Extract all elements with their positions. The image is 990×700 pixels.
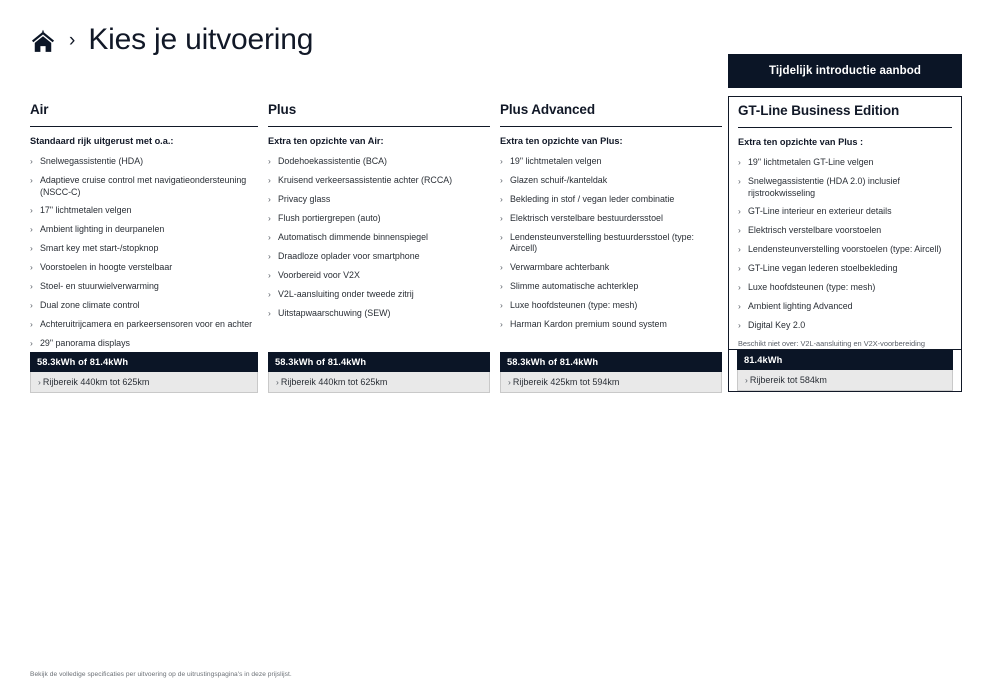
battery-capacity-label: 58.3kWh of 81.4kWh — [30, 352, 258, 372]
feature-label: GT-Line vegan lederen stoelbekleding — [748, 263, 898, 273]
chevron-right-icon: › — [30, 224, 33, 235]
list-item: ›Snelwegassistentie (HDA) — [30, 156, 258, 167]
feature-label: Elektrisch verstelbare bestuurdersstoel — [510, 213, 663, 223]
feature-label: 19" lichtmetalen GT-Line velgen — [748, 157, 874, 167]
feature-label: Harman Kardon premium sound system — [510, 319, 667, 329]
feature-label: Bekleding in stof / vegan leder combinat… — [510, 194, 674, 204]
list-item: ›19" lichtmetalen velgen — [500, 156, 722, 167]
list-item: ›Automatisch dimmende binnenspiegel — [268, 232, 490, 243]
chevron-right-icon: › — [30, 281, 33, 292]
chevron-right-icon: › — [738, 225, 741, 236]
column-title: GT-Line Business Edition — [738, 97, 952, 127]
list-item: ›Glazen schuif-/kanteldak — [500, 175, 722, 186]
trim-column-gt-line-business-edition: GT-Line Business Edition Extra ten opzic… — [728, 96, 962, 350]
chevron-right-icon: › — [738, 157, 741, 168]
chevron-right-icon: › — [500, 156, 503, 167]
feature-label: V2L-aansluiting onder tweede zitrij — [278, 289, 414, 299]
chevron-right-icon: › — [500, 262, 503, 273]
list-item: ›Lendensteunverstelling voorstoelen (typ… — [738, 244, 952, 255]
chevron-right-icon: › — [500, 175, 503, 186]
promo-banner: Tijdelijk introductie aanbod — [728, 54, 962, 88]
battery-capacity-label: 58.3kWh of 81.4kWh — [500, 352, 722, 372]
column-subtitle: Extra ten opzichte van Plus : — [738, 137, 952, 148]
list-item: ›GT-Line vegan lederen stoelbekleding — [738, 263, 952, 274]
range-label: Rijbereik 440km tot 625km — [281, 377, 388, 387]
feature-label: Kruisend verkeersassistentie achter (RCC… — [278, 175, 452, 185]
list-item: ›Kruisend verkeersassistentie achter (RC… — [268, 175, 490, 186]
chevron-right-icon: › — [738, 282, 741, 293]
feature-label: Luxe hoofdsteunen (type: mesh) — [748, 282, 875, 292]
chevron-right-icon: › — [268, 194, 271, 205]
list-item: ›29" panorama displays — [30, 338, 258, 349]
chevron-right-icon: › — [500, 319, 503, 330]
list-item: ›Ambient lighting in deurpanelen — [30, 224, 258, 235]
feature-label: GT-Line interieur en exterieur details — [748, 206, 892, 216]
chevron-right-icon: › — [508, 377, 511, 387]
feature-label: Snelwegassistentie (HDA 2.0) inclusief r… — [748, 176, 900, 197]
battery-block-gt-line: 81.4kWh ›Rijbereik tot 584km — [737, 350, 953, 391]
list-item: ›Stoel- en stuurwielverwarming — [30, 281, 258, 292]
chevron-right-icon: › — [30, 156, 33, 167]
chevron-right-icon: › — [738, 244, 741, 255]
list-item: ›Ambient lighting Advanced — [738, 301, 952, 312]
feature-label: 19" lichtmetalen velgen — [510, 156, 601, 166]
chevron-right-icon: › — [500, 213, 503, 224]
breadcrumb-separator: › — [69, 31, 75, 50]
chevron-right-icon: › — [268, 156, 271, 167]
chevron-right-icon: › — [500, 194, 503, 205]
chevron-right-icon: › — [500, 232, 503, 243]
chevron-right-icon: › — [268, 270, 271, 281]
home-icon[interactable] — [30, 28, 56, 54]
feature-list: ›19" lichtmetalen velgen ›Glazen schuif-… — [500, 156, 722, 331]
feature-label: Verwarmbare achterbank — [510, 262, 609, 272]
list-item: ›Bekleding in stof / vegan leder combina… — [500, 194, 722, 205]
list-item: ›Achteruitrijcamera en parkeersensoren v… — [30, 319, 258, 330]
feature-label: Ambient lighting in deurpanelen — [40, 224, 164, 234]
list-item: ›Slimme automatische achterklep — [500, 281, 722, 292]
range-label: Rijbereik 440km tot 625km — [43, 377, 150, 387]
list-item: ›Privacy glass — [268, 194, 490, 205]
list-item: ›Elektrisch verstelbare voorstoelen — [738, 225, 952, 236]
feature-label: Adaptieve cruise control met navigatieon… — [40, 175, 246, 196]
chevron-right-icon: › — [30, 262, 33, 273]
trim-column-air: Air Standaard rijk uitgerust met o.a.: ›… — [30, 96, 258, 357]
column-title: Air — [30, 96, 258, 126]
breadcrumb: › Kies je uitvoering — [30, 26, 313, 56]
chevron-right-icon: › — [738, 320, 741, 331]
feature-list: ›Dodehoekassistentie (BCA) ›Kruisend ver… — [268, 156, 490, 319]
page-title: Kies je uitvoering — [88, 25, 313, 55]
chevron-right-icon: › — [268, 308, 271, 319]
feature-label: Draadloze oplader voor smartphone — [278, 251, 420, 261]
feature-label: Stoel- en stuurwielverwarming — [40, 281, 159, 291]
feature-label: Elektrisch verstelbare voorstoelen — [748, 225, 881, 235]
chevron-right-icon: › — [738, 176, 741, 187]
range-row: ›Rijbereik 440km tot 625km — [30, 372, 258, 393]
list-item: ›Dual zone climate control — [30, 300, 258, 311]
column-title: Plus Advanced — [500, 96, 722, 126]
feature-label: Achteruitrijcamera en parkeersensoren vo… — [40, 319, 252, 329]
chevron-right-icon: › — [30, 205, 33, 216]
trim-column-plus-advanced: Plus Advanced Extra ten opzichte van Plu… — [500, 96, 722, 338]
feature-label: Flush portiergrepen (auto) — [278, 213, 381, 223]
list-item: ›Digital Key 2.0 — [738, 320, 952, 331]
list-item: ›Luxe hoofdsteunen (type: mesh) — [738, 282, 952, 293]
list-item: ›19" lichtmetalen GT-Line velgen — [738, 157, 952, 168]
battery-capacity-label: 81.4kWh — [737, 350, 953, 370]
feature-list: ›19" lichtmetalen GT-Line velgen ›Snelwe… — [738, 157, 952, 332]
feature-label: Voorbereid voor V2X — [278, 270, 360, 280]
column-title: Plus — [268, 96, 490, 126]
range-row: ›Rijbereik tot 584km — [737, 370, 953, 391]
feature-label: Dodehoekassistentie (BCA) — [278, 156, 387, 166]
column-rule — [738, 127, 952, 129]
list-item: ›GT-Line interieur en exterieur details — [738, 206, 952, 217]
chevron-right-icon: › — [30, 338, 33, 349]
column-subtitle: Extra ten opzichte van Plus: — [500, 136, 722, 147]
chevron-right-icon: › — [30, 319, 33, 330]
range-label: Rijbereik tot 584km — [750, 375, 827, 385]
feature-label: Lendensteunverstelling voorstoelen (type… — [748, 244, 941, 254]
list-item: ›Smart key met start-/stopknop — [30, 243, 258, 254]
chevron-right-icon: › — [738, 301, 741, 312]
chevron-right-icon: › — [30, 175, 33, 186]
exclusion-note: Beschikt niet over: V2L-aansluiting en V… — [738, 339, 952, 348]
feature-label: Luxe hoofdsteunen (type: mesh) — [510, 300, 637, 310]
chevron-right-icon: › — [268, 175, 271, 186]
list-item: ›17" lichtmetalen velgen — [30, 205, 258, 216]
feature-label: Ambient lighting Advanced — [748, 301, 853, 311]
chevron-right-icon: › — [745, 375, 748, 385]
column-subtitle: Standaard rijk uitgerust met o.a.: — [30, 136, 258, 147]
feature-label: Automatisch dimmende binnenspiegel — [278, 232, 428, 242]
list-item: ›Draadloze oplader voor smartphone — [268, 251, 490, 262]
feature-label: Privacy glass — [278, 194, 330, 204]
list-item: ›V2L-aansluiting onder tweede zitrij — [268, 289, 490, 300]
chevron-right-icon: › — [268, 251, 271, 262]
list-item: ›Voorbereid voor V2X — [268, 270, 490, 281]
feature-label: Glazen schuif-/kanteldak — [510, 175, 607, 185]
chevron-right-icon: › — [268, 289, 271, 300]
feature-label: Dual zone climate control — [40, 300, 140, 310]
chevron-right-icon: › — [268, 232, 271, 243]
feature-label: 29" panorama displays — [40, 338, 130, 348]
chevron-right-icon: › — [30, 243, 33, 254]
feature-label: Voorstoelen in hoogte verstelbaar — [40, 262, 172, 272]
list-item: ›Snelwegassistentie (HDA 2.0) inclusief … — [738, 176, 952, 199]
feature-label: Smart key met start-/stopknop — [40, 243, 158, 253]
list-item: ›Elektrisch verstelbare bestuurdersstoel — [500, 213, 722, 224]
feature-label: 17" lichtmetalen velgen — [40, 205, 131, 215]
battery-block-plus: 58.3kWh of 81.4kWh ›Rijbereik 440km tot … — [268, 352, 490, 393]
chevron-right-icon: › — [500, 281, 503, 292]
feature-label: Snelwegassistentie (HDA) — [40, 156, 143, 166]
chevron-right-icon: › — [276, 377, 279, 387]
chevron-right-icon: › — [30, 300, 33, 311]
battery-capacity-label: 58.3kWh of 81.4kWh — [268, 352, 490, 372]
column-subtitle: Extra ten opzichte van Air: — [268, 136, 490, 147]
chevron-right-icon: › — [268, 213, 271, 224]
list-item: ›Voorstoelen in hoogte verstelbaar — [30, 262, 258, 273]
chevron-right-icon: › — [500, 300, 503, 311]
chevron-right-icon: › — [738, 263, 741, 274]
feature-label: Lendensteunverstelling bestuurdersstoel … — [510, 232, 694, 253]
trim-column-plus: Plus Extra ten opzichte van Air: ›Dodeho… — [268, 96, 490, 327]
column-rule — [268, 126, 490, 128]
range-label: Rijbereik 425km tot 594km — [513, 377, 620, 387]
list-item: ›Luxe hoofdsteunen (type: mesh) — [500, 300, 722, 311]
list-item: ›Dodehoekassistentie (BCA) — [268, 156, 490, 167]
battery-block-plus-advanced: 58.3kWh of 81.4kWh ›Rijbereik 425km tot … — [500, 352, 722, 393]
page-footnote: Bekijk de volledige specificaties per ui… — [30, 671, 292, 678]
range-row: ›Rijbereik 440km tot 625km — [268, 372, 490, 393]
battery-block-air: 58.3kWh of 81.4kWh ›Rijbereik 440km tot … — [30, 352, 258, 393]
feature-label: Uitstapwaarschuwing (SEW) — [278, 308, 390, 318]
list-item: ›Verwarmbare achterbank — [500, 262, 722, 273]
range-row: ›Rijbereik 425km tot 594km — [500, 372, 722, 393]
feature-label: Digital Key 2.0 — [748, 320, 805, 330]
chevron-right-icon: › — [738, 206, 741, 217]
list-item: ›Lendensteunverstelling bestuurdersstoel… — [500, 232, 722, 255]
feature-label: Slimme automatische achterklep — [510, 281, 638, 291]
list-item: ›Harman Kardon premium sound system — [500, 319, 722, 330]
feature-list: ›Snelwegassistentie (HDA) ›Adaptieve cru… — [30, 156, 258, 350]
list-item: ›Flush portiergrepen (auto) — [268, 213, 490, 224]
chevron-right-icon: › — [38, 377, 41, 387]
column-rule — [500, 126, 722, 128]
list-item: ›Adaptieve cruise control met navigatieo… — [30, 175, 258, 198]
list-item: ›Uitstapwaarschuwing (SEW) — [268, 308, 490, 319]
column-rule — [30, 126, 258, 128]
